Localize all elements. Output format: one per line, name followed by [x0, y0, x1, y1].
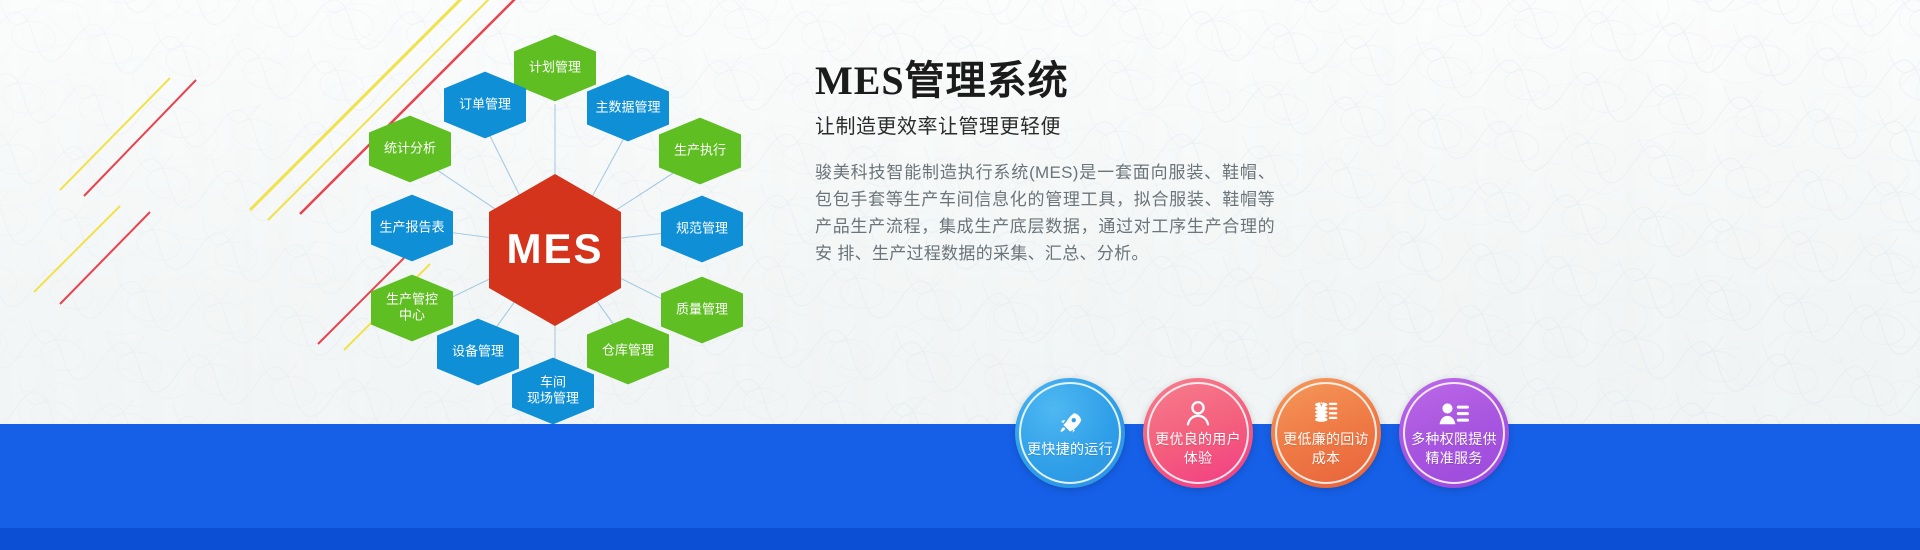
hex-node-label: 现场管理: [527, 390, 579, 405]
feature-badge[interactable]: ¥更低廉的回访成本: [1271, 378, 1381, 488]
description-text: 骏美科技智能制造执行系统(MES)是一套面向服装、鞋帽、包包手套等生产车间信息化…: [815, 159, 1275, 267]
hex-node-label: 中心: [399, 307, 425, 322]
hex-node[interactable]: 仓库管理: [587, 318, 669, 385]
hex-node[interactable]: 计划管理: [514, 35, 596, 102]
hex-node[interactable]: 规范管理: [661, 196, 743, 263]
feature-badges: 更快捷的运行更优良的用户体验¥更低廉的回访成本多种权限提供精准服务: [1015, 378, 1509, 488]
hex-node-label: 统计分析: [384, 140, 436, 155]
hex-node[interactable]: 统计分析: [369, 116, 451, 183]
hex-node-label: 车间: [540, 374, 566, 389]
hex-node-label: 规范管理: [676, 220, 728, 235]
contact-icon: [1438, 398, 1470, 428]
mes-hexagon-diagram: MES 计划管理订单管理主数据管理统计分析生产执行生产报告表规范管理生产管控中心…: [330, 18, 800, 438]
feature-badge[interactable]: 多种权限提供精准服务: [1399, 378, 1509, 488]
coins-icon: ¥: [1311, 398, 1341, 428]
hex-node[interactable]: 车间现场管理: [512, 358, 594, 425]
hex-node[interactable]: 主数据管理: [587, 75, 669, 142]
hex-center-label: MES: [506, 225, 603, 272]
page-title: MES管理系统: [815, 58, 1335, 104]
banner-copy: MES管理系统 让制造更效率让管理更轻便 骏美科技智能制造执行系统(MES)是一…: [815, 58, 1335, 267]
feature-badge[interactable]: 更优良的用户体验: [1143, 378, 1253, 488]
hex-node[interactable]: 质量管理: [661, 277, 743, 344]
feature-badge-label: 更优良的用户体验: [1145, 430, 1251, 468]
feature-badge-label: 多种权限提供精准服务: [1401, 430, 1507, 468]
hex-node[interactable]: 设备管理: [437, 319, 519, 386]
hex-node-label: 生产执行: [674, 142, 726, 157]
hex-node-label: 主数据管理: [595, 99, 660, 114]
hex-node[interactable]: 订单管理: [444, 72, 526, 139]
hex-node[interactable]: 生产报告表: [371, 195, 453, 262]
mes-banner: MES 计划管理订单管理主数据管理统计分析生产执行生产报告表规范管理生产管控中心…: [0, 0, 1920, 550]
hex-node[interactable]: 生产管控中心: [371, 275, 453, 342]
hex-node-label: 订单管理: [459, 96, 511, 111]
feature-badge-label: 更低廉的回访成本: [1273, 430, 1379, 468]
rocket-icon: [1055, 408, 1085, 438]
hex-node-label: 生产报告表: [379, 219, 444, 234]
feature-badge[interactable]: 更快捷的运行: [1015, 378, 1125, 488]
hex-node-label: 生产管控: [386, 291, 438, 306]
user-icon: [1184, 398, 1212, 428]
blue-band-shadow: [0, 528, 1920, 550]
hex-node-label: 仓库管理: [602, 342, 654, 357]
description-block: 骏美科技智能制造执行系统(MES)是一套面向服装、鞋帽、包包手套等生产车间信息化…: [815, 159, 1275, 267]
hex-node-label: 设备管理: [452, 343, 504, 358]
feature-badge-label: 更快捷的运行: [1017, 440, 1123, 459]
hex-node-center[interactable]: MES: [489, 174, 621, 326]
hex-node-label: 计划管理: [529, 59, 581, 74]
page-subtitle: 让制造更效率让管理更轻便: [815, 110, 1335, 139]
hex-node-label: 质量管理: [676, 301, 728, 316]
